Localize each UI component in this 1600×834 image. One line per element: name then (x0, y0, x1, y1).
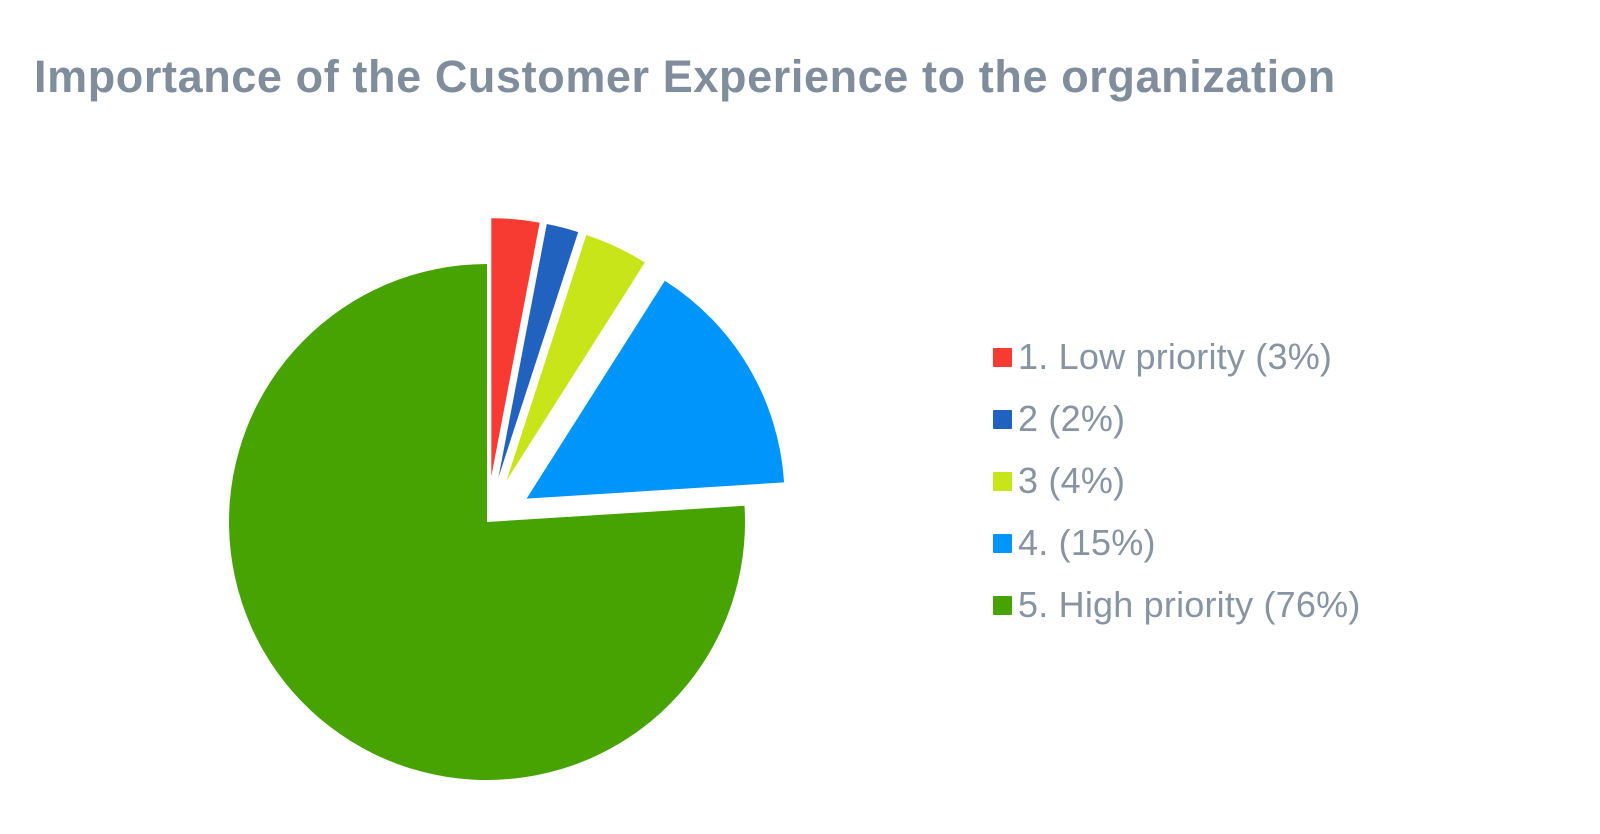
legend-item-label: 2 (2%) (1018, 401, 1125, 437)
pie-svg (0, 110, 980, 834)
legend-item-label: 4. (15%) (1018, 525, 1156, 561)
pie-chart-figure: Importance of the Customer Experience to… (0, 0, 1600, 834)
legend-item-label: 3 (4%) (1018, 463, 1125, 499)
legend-color-swatch-icon (993, 410, 1012, 429)
legend-item[interactable]: 2 (2%) (993, 388, 1573, 450)
legend-color-swatch-icon (993, 348, 1012, 367)
chart-legend: 1. Low priority (3%)2 (2%)3 (4%)4. (15%)… (993, 326, 1573, 636)
chart-title: Importance of the Customer Experience to… (34, 52, 1574, 102)
legend-color-swatch-icon (993, 596, 1012, 615)
legend-item-label: 5. High priority (76%) (1018, 587, 1361, 623)
legend-color-swatch-icon (993, 472, 1012, 491)
pie-slice-group (229, 218, 784, 780)
legend-item[interactable]: 3 (4%) (993, 450, 1573, 512)
legend-color-swatch-icon (993, 534, 1012, 553)
legend-item[interactable]: 1. Low priority (3%) (993, 326, 1573, 388)
legend-item-label: 1. Low priority (3%) (1018, 339, 1332, 375)
pie-plot-area (0, 110, 980, 834)
legend-item[interactable]: 4. (15%) (993, 512, 1573, 574)
legend-item[interactable]: 5. High priority (76%) (993, 574, 1573, 636)
